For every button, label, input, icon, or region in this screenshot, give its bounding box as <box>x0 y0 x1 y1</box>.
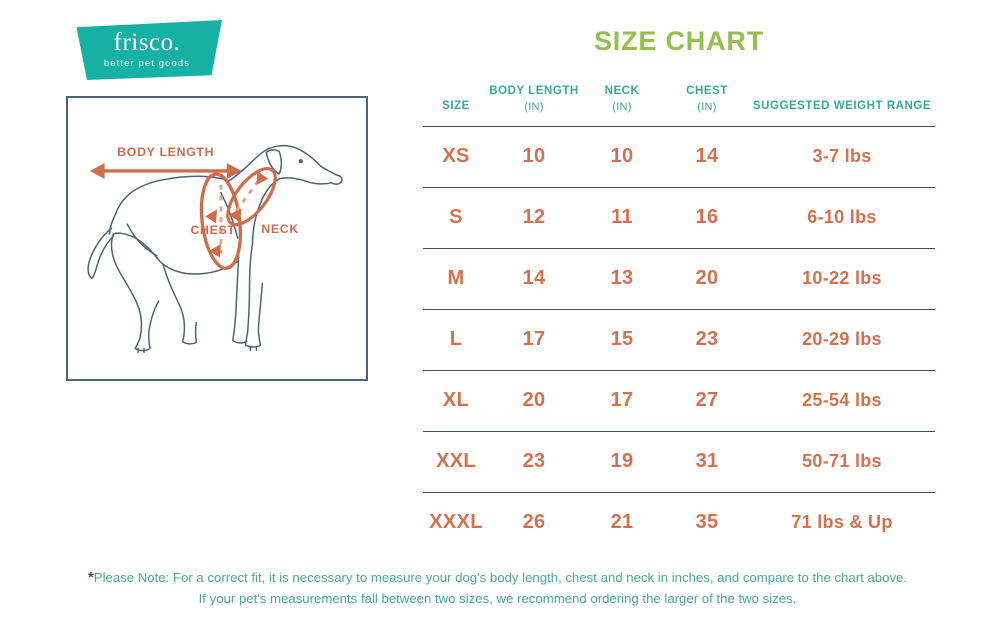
cell-weight: 3-7 lbs <box>749 126 935 187</box>
header-row: SIZE BODY LENGTH (in) NECK (in) CHEST (i… <box>423 80 935 126</box>
cell-neck: 17 <box>579 370 665 431</box>
cell-weight: 25-54 lbs <box>749 370 935 431</box>
footnote: *Please Note: For a correct fit, it is n… <box>0 566 995 610</box>
size-chart-table: SIZE BODY LENGTH (in) NECK (in) CHEST (i… <box>423 80 935 553</box>
footnote-text-1: Please Note: For a correct fit, it is ne… <box>94 570 907 585</box>
unit-body-length: (in) <box>489 99 579 114</box>
unit-chest: (in) <box>665 99 749 114</box>
column-header-size: SIZE <box>423 80 489 126</box>
neck-label: NECK <box>261 222 299 236</box>
dog-illustration: BODY LENGTH CHEST NECK <box>68 98 366 379</box>
column-header-chest: CHEST (in) <box>665 80 749 126</box>
logo-wordmark: frisco. <box>72 30 222 55</box>
neck-guide-line <box>234 181 259 215</box>
cell-neck: 19 <box>579 431 665 492</box>
footnote-line-1: *Please Note: For a correct fit, it is n… <box>0 566 995 589</box>
frisco-logo: frisco. better pet goods <box>72 20 222 80</box>
table-row: L 17 15 23 20-29 lbs <box>423 309 935 370</box>
cell-size: XL <box>423 370 489 431</box>
unit-neck: (in) <box>579 99 665 114</box>
cell-chest: 16 <box>665 187 749 248</box>
cell-size: M <box>423 248 489 309</box>
cell-chest: 23 <box>665 309 749 370</box>
table-row: S 12 11 16 6-10 lbs <box>423 187 935 248</box>
cell-body-length: 12 <box>489 187 579 248</box>
cell-weight: 6-10 lbs <box>749 187 935 248</box>
cell-neck: 10 <box>579 126 665 187</box>
cell-size: L <box>423 309 489 370</box>
footnote-line-2: If your pet's measurements fall between … <box>0 589 995 609</box>
table-row: XS 10 10 14 3-7 lbs <box>423 126 935 187</box>
table-row: XL 20 17 27 25-54 lbs <box>423 370 935 431</box>
cell-chest: 35 <box>665 492 749 553</box>
cell-size: XXXL <box>423 492 489 553</box>
cell-body-length: 10 <box>489 126 579 187</box>
cell-chest: 27 <box>665 370 749 431</box>
cell-weight: 71 lbs & Up <box>749 492 935 553</box>
dog-measurement-diagram: BODY LENGTH CHEST NECK <box>66 96 368 381</box>
cell-weight: 20-29 lbs <box>749 309 935 370</box>
cell-weight: 50-71 lbs <box>749 431 935 492</box>
cell-neck: 11 <box>579 187 665 248</box>
cell-chest: 14 <box>665 126 749 187</box>
table-body: XS 10 10 14 3-7 lbs S 12 11 16 6-10 lbs … <box>423 126 935 553</box>
column-header-weight-range: SUGGESTED WEIGHT RANGE <box>749 80 935 126</box>
cell-neck: 15 <box>579 309 665 370</box>
table-row: XXXL 26 21 35 71 lbs & Up <box>423 492 935 553</box>
cell-size: XS <box>423 126 489 187</box>
body-length-label: BODY LENGTH <box>117 145 214 159</box>
logo-tagline: better pet goods <box>72 59 222 69</box>
column-header-body-length: BODY LENGTH (in) <box>489 80 579 126</box>
column-header-neck: NECK (in) <box>579 80 665 126</box>
cell-body-length: 14 <box>489 248 579 309</box>
cell-neck: 21 <box>579 492 665 553</box>
chest-label: CHEST <box>190 223 235 237</box>
cell-size: XXL <box>423 431 489 492</box>
cell-body-length: 20 <box>489 370 579 431</box>
cell-body-length: 23 <box>489 431 579 492</box>
cell-body-length: 17 <box>489 309 579 370</box>
cell-weight: 10-22 lbs <box>749 248 935 309</box>
cell-size: S <box>423 187 489 248</box>
cell-body-length: 26 <box>489 492 579 553</box>
cell-chest: 31 <box>665 431 749 492</box>
page-title: SIZE CHART <box>423 28 935 55</box>
table-row: XXL 23 19 31 50-71 lbs <box>423 431 935 492</box>
table-header: SIZE BODY LENGTH (in) NECK (in) CHEST (i… <box>423 80 935 126</box>
cell-neck: 13 <box>579 248 665 309</box>
table-row: M 14 13 20 10-22 lbs <box>423 248 935 309</box>
cell-chest: 20 <box>665 248 749 309</box>
